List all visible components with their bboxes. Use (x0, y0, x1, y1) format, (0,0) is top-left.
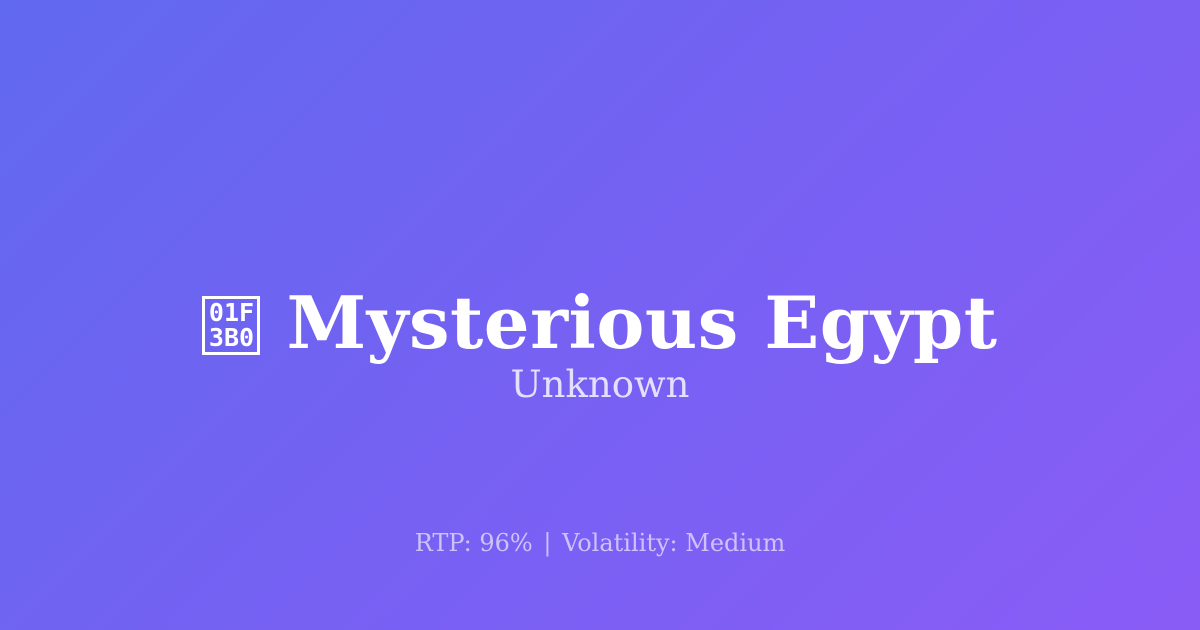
game-meta-line: RTP: 96% | Volatility: Medium (0, 528, 1200, 558)
game-preview-card: 01F 3B0 Mysterious Egypt Unknown RTP: 96… (0, 0, 1200, 630)
game-title: Mysterious Egypt (286, 284, 997, 362)
tofu-codepoint-bottom: 3B0 (209, 325, 254, 350)
game-provider-subtitle: Unknown (0, 362, 1200, 408)
rtp-label: RTP: 96% (415, 529, 533, 557)
meta-separator: | (540, 529, 554, 557)
volatility-label: Volatility: Medium (562, 529, 785, 557)
tofu-codepoint-top: 01F (209, 300, 254, 325)
slot-machine-icon: 01F 3B0 (202, 296, 260, 355)
